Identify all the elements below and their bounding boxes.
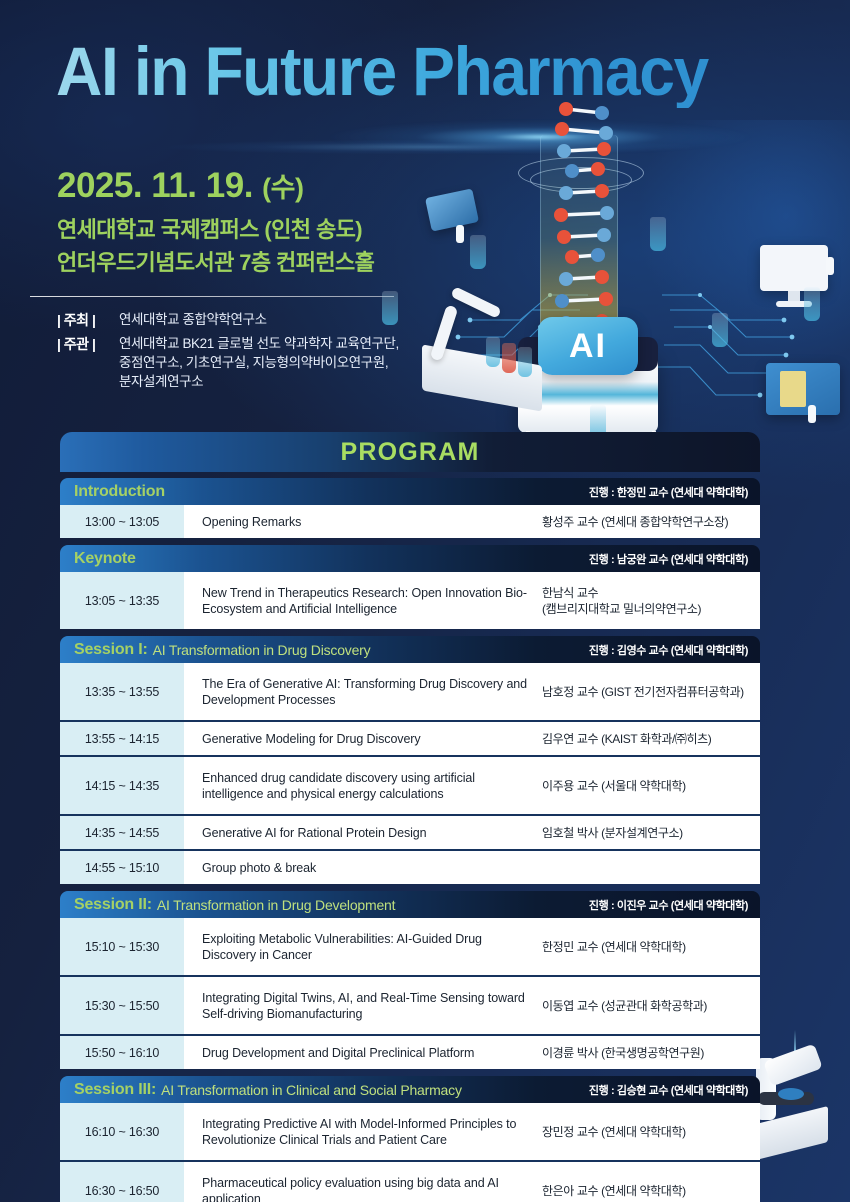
lens-flare (330, 120, 750, 154)
session-title: Introduction (74, 483, 165, 501)
session-time: 14:35 ~ 14:55 (60, 816, 184, 849)
session-moderator: 진행 : 한정민 교수 (연세대 약학대학) (589, 484, 748, 500)
session-speaker: 김우연 교수 (KAIST 화학과/㈜히츠) (538, 722, 760, 755)
program-banner-label: PROGRAM (341, 438, 480, 467)
ai-chip-label: AI (538, 317, 638, 375)
session-moderator: 진행 : 김영수 교수 (연세대 약학대학) (589, 642, 748, 658)
table-row[interactable]: 13:05 ~ 13:35New Trend in Therapeutics R… (60, 572, 760, 629)
chip-dark-layer (518, 337, 658, 371)
event-date: 2025. 11. 19. (수) (57, 166, 303, 206)
session-subtitle: AI Transformation in Drug Development (157, 897, 396, 913)
conference-poster: AI in Future Pharmacy 2025. 11. 19. (수) … (0, 0, 850, 1202)
session-speaker: 이주용 교수 (서울대 약학대학) (538, 757, 760, 814)
session-talk-title: New Trend in Therapeutics Research: Open… (184, 572, 538, 629)
session-list: Introduction진행 : 한정민 교수 (연세대 약학대학)13:00 … (60, 478, 760, 1202)
program-section: PROGRAM Introduction진행 : 한정민 교수 (연세대 약학대… (60, 432, 760, 1202)
session-speaker (538, 851, 760, 884)
session-header-bar[interactable]: Session II:AI Transformation in Drug Dev… (60, 891, 760, 918)
host-tag: | 주관 | (57, 334, 119, 354)
session-moderator: 진행 : 이진우 교수 (연세대 약학대학) (589, 897, 748, 913)
monitor-stand (788, 291, 800, 303)
session-speaker: 이동엽 교수 (성균관대 화학공학과) (538, 977, 760, 1034)
session-title: Session I: (74, 641, 148, 659)
circuit-lines-icon (400, 105, 850, 445)
session-talk-title: Pharmaceutical policy evaluation using b… (184, 1162, 538, 1202)
session-title: Session III: (74, 1081, 156, 1099)
session-block: Keynote진행 : 남궁완 교수 (연세대 약학대학)13:05 ~ 13:… (60, 545, 760, 629)
session-block: Introduction진행 : 한정민 교수 (연세대 약학대학)13:00 … (60, 478, 760, 538)
host-row: | 주관 |연세대학교 BK21 글로벌 선도 약과학자 교육연구단,중점연구소… (57, 334, 457, 391)
session-talk-title: Integrating Digital Twins, AI, and Real-… (184, 977, 538, 1034)
session-speaker: 남호정 교수 (GIST 전기전자컴퓨터공학과) (538, 663, 760, 720)
floating-vial-4 (712, 313, 728, 347)
vial-icon-1 (486, 337, 500, 367)
session-time: 15:50 ~ 16:10 (60, 1036, 184, 1069)
session-title: Keynote (74, 550, 136, 568)
host-block: | 주최 |연세대학교 종합약학연구소| 주관 |연세대학교 BK21 글로벌 … (57, 310, 457, 395)
chip-base (518, 353, 658, 433)
session-talk-title: Generative Modeling for Drug Discovery (184, 722, 538, 755)
monitor-base (776, 301, 812, 307)
page-title: AI in Future Pharmacy (56, 36, 744, 108)
session-time: 16:30 ~ 16:50 (60, 1162, 184, 1202)
floating-vial-2 (470, 235, 486, 269)
session-subtitle: AI Transformation in Clinical and Social… (161, 1082, 462, 1098)
session-moderator: 진행 : 김승현 교수 (연세대 약학대학) (589, 1082, 748, 1098)
table-row[interactable]: 15:10 ~ 15:30Exploiting Metabolic Vulner… (60, 918, 760, 977)
table-row[interactable]: 15:30 ~ 15:50Integrating Digital Twins, … (60, 977, 760, 1036)
floating-vial-3 (650, 217, 666, 251)
host-tag: | 주최 | (57, 310, 119, 330)
venue-line-1: 연세대학교 국제캠퍼스 (인천 송도) (57, 212, 362, 244)
session-time: 13:35 ~ 13:55 (60, 663, 184, 720)
scientist-figure-bottom-right (808, 405, 816, 423)
session-speaker: 장민정 교수 (연세대 약학대학) (538, 1103, 760, 1160)
scientist-figure-right (826, 257, 834, 275)
session-header-bar[interactable]: Introduction진행 : 한정민 교수 (연세대 약학대학) (60, 478, 760, 505)
robotic-arm-segment-2 (450, 286, 502, 319)
table-row[interactable]: 13:00 ~ 13:05Opening Remarks황성주 교수 (연세대 … (60, 505, 760, 538)
program-banner: PROGRAM (60, 432, 760, 472)
background-glow (630, 120, 850, 360)
horizon-glow (170, 140, 690, 154)
dna-helix-icon (552, 99, 616, 349)
session-header-bar[interactable]: Session I:AI Transformation in Drug Disc… (60, 636, 760, 663)
host-value: 연세대학교 종합약학연구소 (119, 310, 267, 329)
left-screen-icon (425, 188, 479, 231)
vial-icon-3 (518, 347, 532, 377)
table-row[interactable]: 14:15 ~ 14:35Enhanced drug candidate dis… (60, 757, 760, 816)
orbit-ring-outer (518, 157, 644, 189)
ai-lab-illustration: AI (400, 105, 850, 445)
table-row[interactable]: 14:55 ~ 15:10Group photo & break (60, 851, 760, 884)
session-time: 14:15 ~ 14:35 (60, 757, 184, 814)
session-talk-title: Group photo & break (184, 851, 538, 884)
session-time: 15:10 ~ 15:30 (60, 918, 184, 975)
test-tube-icon (540, 135, 618, 365)
session-time: 16:10 ~ 16:30 (60, 1103, 184, 1160)
session-time: 13:00 ~ 13:05 (60, 505, 184, 538)
session-talk-title: Integrating Predictive AI with Model-Inf… (184, 1103, 538, 1160)
session-header-bar[interactable]: Session III:AI Transformation in Clinica… (60, 1076, 760, 1103)
session-talk-title: Enhanced drug candidate discovery using … (184, 757, 538, 814)
event-day-of-week: (수) (262, 173, 303, 203)
session-talk-title: Generative AI for Rational Protein Desig… (184, 816, 538, 849)
session-speaker: 황성주 교수 (연세대 종합약학연구소장) (538, 505, 760, 538)
tablet-icon (766, 363, 840, 415)
table-row[interactable]: 16:30 ~ 16:50Pharmaceutical policy evalu… (60, 1162, 760, 1202)
tablet-document-icon (780, 371, 806, 407)
light-beam (794, 1030, 796, 1056)
session-time: 13:55 ~ 14:15 (60, 722, 184, 755)
table-row[interactable]: 14:35 ~ 14:55Generative AI for Rational … (60, 816, 760, 851)
session-subtitle: AI Transformation in Drug Discovery (153, 642, 371, 658)
session-time: 13:05 ~ 13:35 (60, 572, 184, 629)
table-row[interactable]: 16:10 ~ 16:30Integrating Predictive AI w… (60, 1103, 760, 1162)
session-block: Session III:AI Transformation in Clinica… (60, 1076, 760, 1202)
session-speaker: 한남식 교수(캠브리지대학교 밀너의약연구소) (538, 572, 760, 629)
session-header-bar[interactable]: Keynote진행 : 남궁완 교수 (연세대 약학대학) (60, 545, 760, 572)
session-block: Session I:AI Transformation in Drug Disc… (60, 636, 760, 884)
orbit-ring-inner (530, 167, 632, 193)
session-moderator: 진행 : 남궁완 교수 (연세대 약학대학) (589, 551, 748, 567)
session-time: 15:30 ~ 15:50 (60, 977, 184, 1034)
floating-vial-5 (804, 287, 820, 321)
session-speaker: 임호철 박사 (분자설계연구소) (538, 816, 760, 849)
session-talk-title: Drug Development and Digital Preclinical… (184, 1036, 538, 1069)
venue-line-2: 언더우드기념도서관 7층 컨퍼런스홀 (57, 245, 374, 277)
section-divider (30, 296, 394, 297)
session-speaker: 한정민 교수 (연세대 약학대학) (538, 918, 760, 975)
session-time: 14:55 ~ 15:10 (60, 851, 184, 884)
session-title: Session II: (74, 896, 152, 914)
specimen-dish-icon (778, 1088, 804, 1100)
vial-icon-2 (502, 343, 516, 373)
session-talk-title: Exploiting Metabolic Vulnerabilities: AI… (184, 918, 538, 975)
microscope-stage (758, 1092, 814, 1105)
session-block: Session II:AI Transformation in Drug Dev… (60, 891, 760, 1069)
event-date-text: 2025. 11. 19. (57, 166, 253, 205)
microscope-head (763, 1044, 823, 1087)
scientist-figure-left (456, 225, 464, 243)
session-speaker: 이경륜 박사 (한국생명공학연구원) (538, 1036, 760, 1069)
table-row[interactable]: 13:55 ~ 14:15Generative Modeling for Dru… (60, 722, 760, 757)
table-row[interactable]: 15:50 ~ 16:10Drug Development and Digita… (60, 1036, 760, 1069)
monitor-icon (760, 245, 828, 291)
host-value: 연세대학교 BK21 글로벌 선도 약과학자 교육연구단,중점연구소, 기초연구… (119, 334, 399, 391)
table-row[interactable]: 13:35 ~ 13:55The Era of Generative AI: T… (60, 663, 760, 722)
session-talk-title: The Era of Generative AI: Transforming D… (184, 663, 538, 720)
host-row: | 주최 |연세대학교 종합약학연구소 (57, 310, 457, 330)
session-speaker: 한은아 교수 (연세대 약학대학) (538, 1162, 760, 1202)
session-talk-title: Opening Remarks (184, 505, 538, 538)
